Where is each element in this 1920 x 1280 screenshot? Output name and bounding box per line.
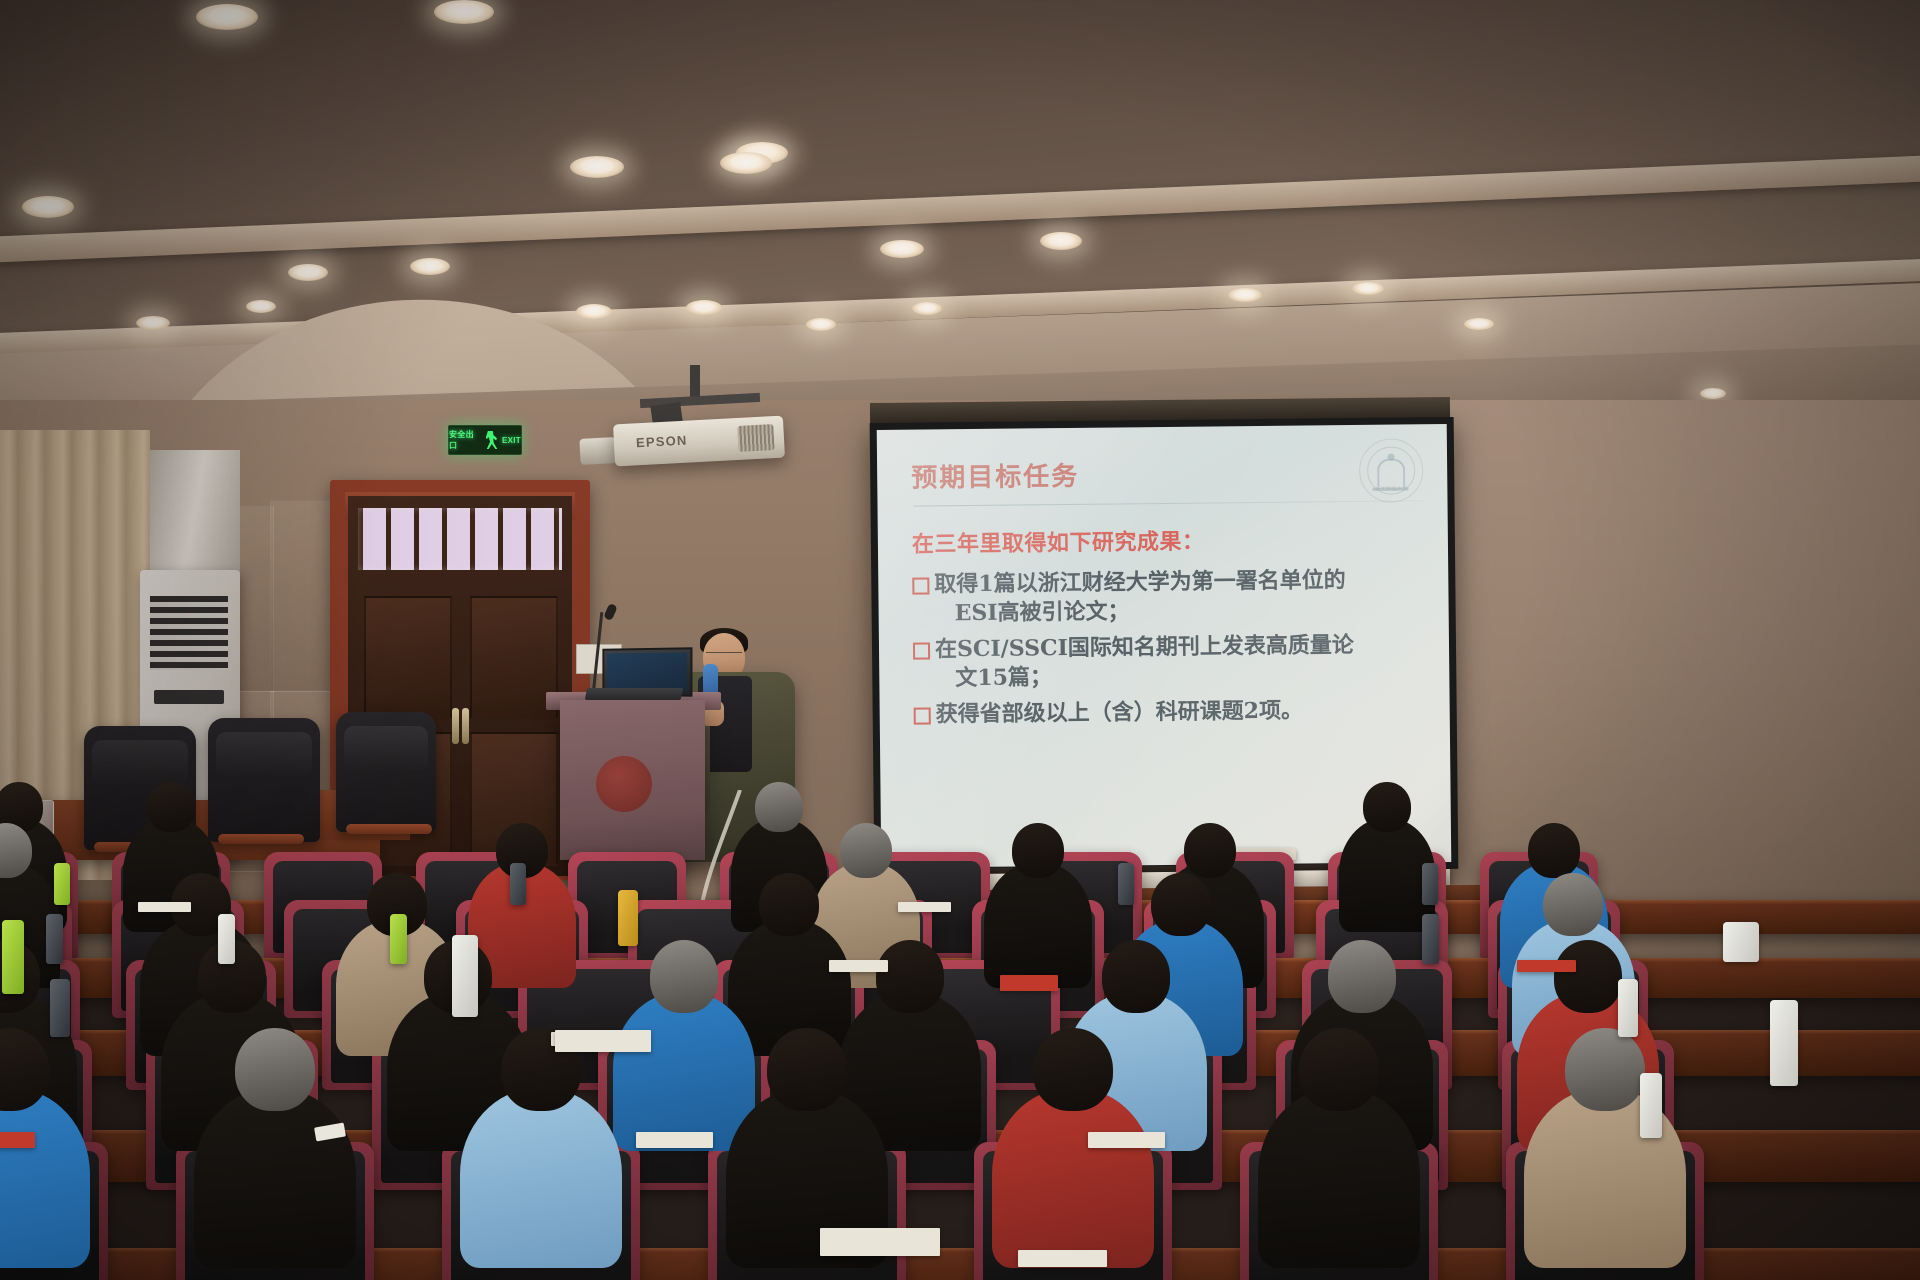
audience-person: [992, 1088, 1154, 1268]
ceiling-downlight: [1228, 288, 1262, 302]
water-bottle: [390, 914, 407, 964]
audience-head: [1328, 940, 1397, 1012]
door-handle[interactable]: [452, 708, 459, 744]
projector-vent: [737, 424, 774, 452]
audience-head: [1565, 1028, 1644, 1111]
water-bottle: [1422, 863, 1437, 906]
chair-armrest: [346, 824, 432, 834]
ceiling-downlight: [1464, 318, 1494, 330]
slide-bullet-text: 在SCI/SSCI国际知名期刊上发表高质量论文15篇；: [935, 631, 1354, 693]
ceiling-downlight: [196, 4, 258, 30]
water-bottle: [1422, 914, 1439, 964]
seal-arch-mark: [1377, 458, 1405, 486]
slide-title: 预期目标任务: [911, 452, 1421, 494]
water-bottle: [510, 863, 525, 906]
presenter-glasses: [706, 652, 742, 660]
university-seal-logo: 浙江财经大学: [1359, 438, 1424, 503]
audience-head: [1363, 782, 1410, 832]
emergency-exit-sign: 安全出口 EXIT: [448, 425, 522, 455]
ceiling-downlight: [570, 156, 624, 178]
ceiling-downlight: [880, 240, 924, 258]
ceiling-downlight: [912, 302, 942, 315]
ceiling-downlight: [246, 300, 276, 313]
ceiling-downlight: [720, 152, 772, 174]
audience-head: [1033, 1028, 1112, 1111]
slide-bullet-list: 取得1篇以浙江财经大学为第一署名单位的ESI高被引论文；在SCI/SSCI国际知…: [912, 565, 1424, 729]
ceiling-downlight: [136, 316, 170, 330]
water-bottle: [54, 863, 69, 906]
ceiling-downlight: [1040, 232, 1082, 250]
ceiling-downlight: [22, 196, 74, 218]
seal-university-name: 浙江财经大学: [1368, 485, 1414, 492]
water-bottle: [1118, 863, 1133, 906]
slide-bullet-item: 取得1篇以浙江财经大学为第一署名单位的ESI高被引论文；: [912, 565, 1423, 628]
ceiling-downlight: [434, 0, 494, 24]
drink-yellow: [618, 890, 638, 946]
notebook-on-desk: [1517, 960, 1576, 972]
cup-right: [1723, 922, 1759, 962]
ceiling-downlight: [1352, 282, 1384, 295]
water-bottle: [1640, 1073, 1662, 1138]
audience-head: [767, 1028, 846, 1111]
audience-head: [650, 940, 719, 1012]
slide-bullet-item: 获得省部级以上（含）科研课题2项。: [914, 696, 1424, 730]
red-notebook: [1000, 975, 1058, 991]
door-panel: [470, 596, 558, 720]
audience-head: [147, 782, 194, 832]
notebook-on-desk: [636, 1132, 713, 1148]
lecture-hall-photo: 安全出口 EXIT EPSON 浙江财经大学 预期目标任务 在三年里取得如下研究…: [0, 0, 1920, 1280]
running-man-icon: [485, 431, 499, 449]
ac-grille: [150, 596, 228, 670]
audience-head: [755, 782, 802, 832]
ceiling-downlight: [288, 264, 328, 281]
audience-person: [194, 1088, 356, 1268]
thermos-green: [2, 920, 24, 994]
notebook-on-desk: [1088, 1132, 1165, 1148]
audience-head: [235, 1028, 314, 1111]
slide-bullet-continuation: 文15篇；: [935, 660, 1354, 693]
projector-lens-housing: [579, 437, 616, 465]
audience-head: [1012, 823, 1065, 878]
chair-armrest: [218, 834, 304, 844]
audience-head: [876, 940, 945, 1012]
open-notebook-2: [820, 1228, 940, 1256]
audience-head: [759, 873, 819, 936]
audience-head: [840, 823, 893, 878]
thermos-white: [452, 935, 478, 1017]
audience-head: [1102, 940, 1171, 1012]
water-bottle: [46, 914, 63, 964]
ceiling-downlight: [1700, 388, 1726, 399]
bullet-square-icon: [913, 643, 930, 660]
audience-head: [1528, 823, 1581, 878]
slide-bullet-item: 在SCI/SSCI国际知名期刊上发表高质量论文15篇；: [913, 630, 1424, 693]
notebook-on-desk: [0, 1132, 35, 1148]
exit-sign-left-label: 安全出口: [449, 429, 482, 451]
executive-chair: [336, 712, 436, 832]
audience-person: [1258, 1088, 1420, 1268]
ac-display-strip: [154, 690, 224, 704]
executive-chair: [208, 718, 320, 842]
audience-person: [460, 1088, 622, 1268]
thermos-white-2: [1770, 1000, 1798, 1086]
door-handle[interactable]: [462, 708, 469, 744]
audience-head: [1299, 1028, 1378, 1111]
audience-person: [613, 992, 754, 1151]
water-bottle: [50, 979, 70, 1037]
ceiling-downlight: [686, 300, 722, 315]
ceiling-downlight: [806, 318, 836, 331]
water-bottle: [218, 914, 235, 964]
notebook-on-desk: [829, 960, 888, 972]
bullet-square-icon: [912, 577, 929, 594]
notebook-on-desk: [1018, 1250, 1107, 1267]
notebook-on-desk: [138, 902, 191, 912]
notebook-on-desk: [898, 902, 951, 912]
projector-brand-label: EPSON: [636, 433, 688, 451]
laptop-screen: [607, 652, 687, 691]
audience-person: [1339, 818, 1436, 932]
open-notebook: [555, 1030, 651, 1052]
audience-person: [984, 862, 1092, 987]
laptop-keyboard[interactable]: [585, 688, 684, 700]
slide-lead-text: 在三年里取得如下研究成果：: [912, 521, 1422, 558]
ceiling-band-upper: [0, 154, 1920, 264]
water-bottle: [1618, 979, 1638, 1037]
audience-head: [1184, 823, 1237, 878]
audience-head: [1543, 873, 1603, 936]
slide-bullet-text: 获得省部级以上（含）科研课题2项。: [936, 697, 1304, 729]
exit-sign-label: EXIT: [502, 436, 521, 445]
slide-bullet-continuation: ESI高被引论文；: [934, 595, 1346, 628]
university-seal-inner: 浙江财经大学: [1367, 446, 1416, 495]
bullet-square-icon: [914, 708, 931, 725]
door-panel: [364, 596, 452, 720]
audience-head: [1554, 940, 1623, 1012]
slide-title-divider: [914, 500, 1424, 506]
ceiling-projector: EPSON: [613, 416, 785, 467]
audience-head: [1151, 873, 1211, 936]
ceiling-downlight: [576, 304, 612, 319]
door-glass-panel: [358, 508, 562, 570]
slide-bullet-text: 取得1篇以浙江财经大学为第一署名单位的ESI高被引论文；: [934, 566, 1346, 627]
ceiling-downlight: [410, 258, 450, 275]
ceiling: [0, 0, 1920, 420]
